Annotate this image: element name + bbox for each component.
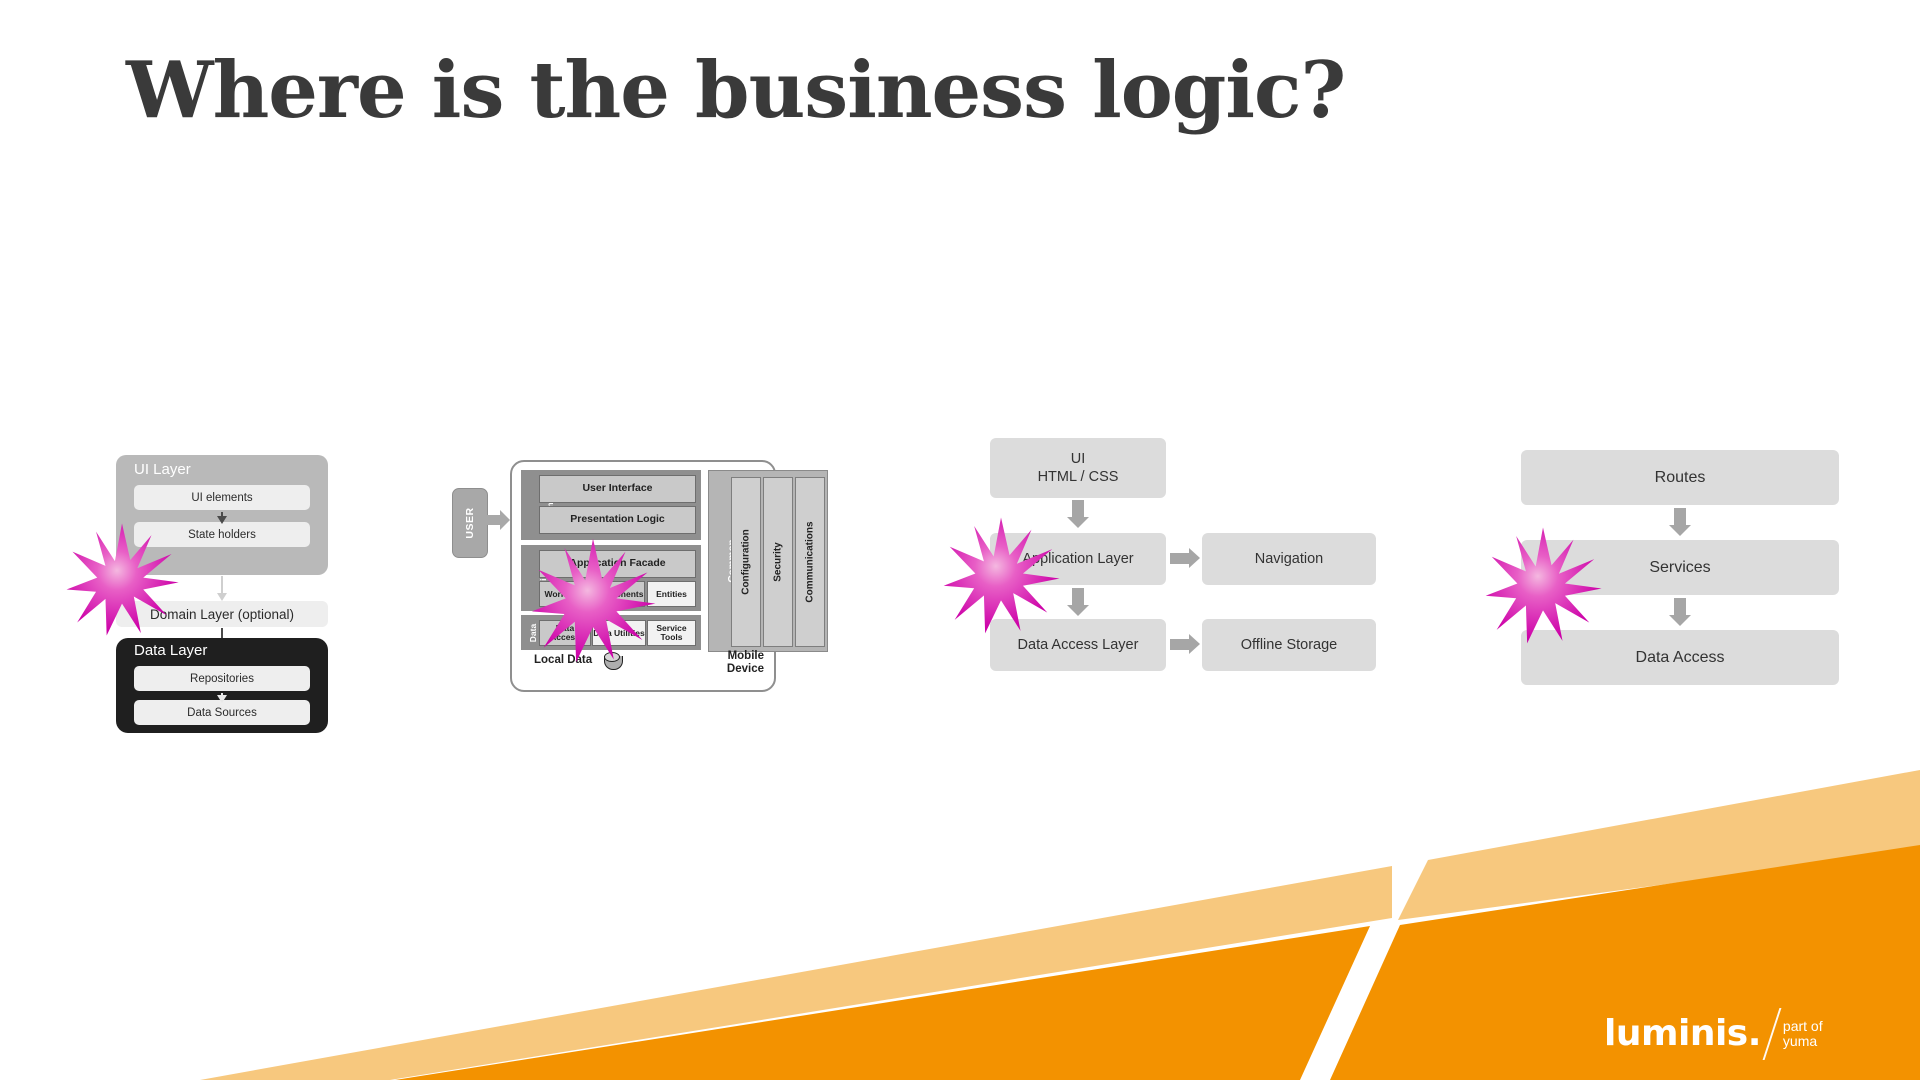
mobile-box-workflow: Workflow [539,581,588,607]
page-title: Where is the business logic? [126,45,1345,136]
mobile-box-components: Components [590,581,645,607]
diagram-node-layers: Routes Services Data Access [1521,450,1839,620]
mobile-column-configuration: Configuration [731,477,761,647]
node-arrow-routes-to-services [1674,508,1686,536]
mobile-user-label: USER [464,507,476,538]
mobile-band-data-label: Data [528,623,538,641]
web-arrow-data-access-to-offline [1170,639,1200,650]
web-box-ui: UI HTML / CSS [990,438,1166,498]
logo-tagline-line1: part of [1783,1019,1823,1034]
android-state-holders-chip: State holders [134,522,310,547]
web-box-data-access-layer: Data Access Layer [990,619,1166,671]
mobile-box-entities: Entities [647,581,696,607]
diagram-mobile-device: USER Presentation User Interface Present… [452,460,872,710]
mobile-column-security: Security [763,477,793,647]
mobile-box-data-access: Data Access [539,620,591,646]
web-box-offline-storage: Offline Storage [1202,619,1376,671]
luminis-wordmark: luminis. [1604,1016,1761,1052]
database-cylinder-icon [604,652,621,672]
android-arrow-repo-to-sources [221,693,223,696]
logo-slash-divider [1762,1008,1781,1060]
mobile-column-communications: Communications [795,477,825,647]
mobile-device-label-line2: Device [727,663,764,676]
web-box-application-layer: Application Layer [990,533,1166,585]
android-ui-elements-chip: UI elements [134,485,310,510]
mobile-device-frame: Presentation User Interface Presentation… [510,460,776,692]
mobile-device-label: Mobile Device [727,650,764,676]
android-arrow-ui-to-domain [221,576,223,594]
android-data-sources-chip: Data Sources [134,700,310,725]
mobile-box-application-facade: Application Facade [539,550,696,578]
luminis-logo: luminis. part of yuma [1604,1008,1823,1060]
logo-tagline: part of yuma [1783,1019,1823,1049]
web-box-navigation: Navigation [1202,533,1376,585]
mobile-box-service-tools: Service Tools [647,620,696,646]
mobile-user-badge: USER [452,488,488,558]
logo-tagline-line2: yuma [1783,1034,1823,1049]
mobile-column-configuration-label: Configuration [741,529,752,595]
mobile-local-data-label: Local Data [534,654,592,666]
mobile-common-group: Common Configuration Security Communicat… [708,470,828,652]
web-box-ui-line1: UI [1038,450,1119,468]
node-box-services: Services [1521,540,1839,595]
slide-root: Where is the business logic? UI Layer UI… [0,0,1920,1080]
android-data-layer-container: Data Layer Repositories Data Sources [116,638,328,733]
android-repositories-chip: Repositories [134,666,310,691]
web-arrow-ui-to-application [1072,500,1084,528]
mobile-user-arrow-icon [486,515,500,525]
mobile-device-label-line1: Mobile [727,650,764,663]
android-ui-layer-title: UI Layer [134,461,191,478]
node-box-routes: Routes [1521,450,1839,505]
android-domain-layer-box: Domain Layer (optional) [116,601,328,627]
diagram-web-layers: UI HTML / CSS Application Layer Navigati… [990,438,1390,598]
web-arrow-application-to-navigation [1170,553,1200,564]
node-arrow-services-to-data-access [1674,598,1686,626]
footer-band-dark-left [395,926,1370,1080]
web-box-ui-line2: HTML / CSS [1038,468,1119,486]
mobile-column-security-label: Security [773,542,784,581]
android-data-layer-title: Data Layer [134,642,207,659]
diagram-android-layers: UI Layer UI elements State holders Domai… [110,455,330,725]
mobile-box-presentation-logic: Presentation Logic [539,506,696,534]
mobile-box-user-interface: User Interface [539,475,696,503]
android-ui-layer-container: UI Layer UI elements State holders [116,455,328,575]
node-box-data-access: Data Access [1521,630,1839,685]
android-arrow-ui-to-state [221,512,223,517]
mobile-box-data-utilities: Data Utilities [592,620,646,646]
web-arrow-application-to-data-access [1072,588,1084,616]
mobile-column-communications-label: Communications [805,521,816,602]
